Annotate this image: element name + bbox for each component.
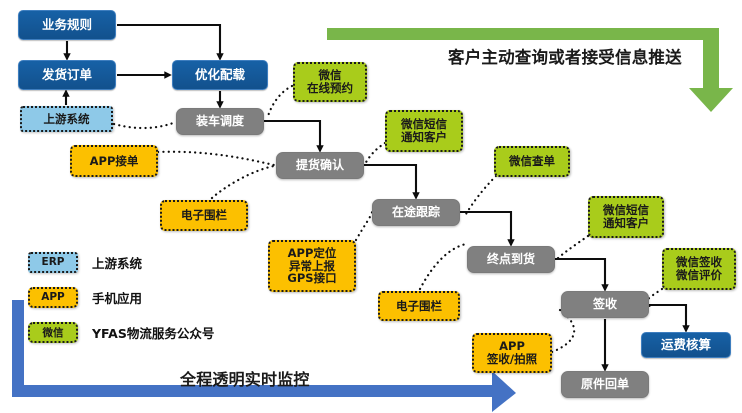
dot-efence2-to-arrival <box>420 244 466 289</box>
flowchart-canvas: 业务规则 发货订单 上游系统 优化配载 装车调度 提货确认 在途跟踪 终点到货 … <box>0 0 742 413</box>
edge-signature-to-freight <box>649 305 686 329</box>
node-wechat-sms-notify-1[interactable]: 微信短信 通知客户 <box>385 110 463 152</box>
edge-rules-to-optimize <box>117 25 220 57</box>
dot-wx-query-to-transit <box>466 176 496 214</box>
node-freight-accounting[interactable]: 运费核算 <box>641 332 731 358</box>
dot-wx-booking-to-loading <box>268 86 292 116</box>
node-upstream-system[interactable]: 上游系统 <box>20 106 113 132</box>
node-in-transit[interactable]: 在途跟踪 <box>372 199 460 226</box>
edge-transit-to-arrival <box>460 212 511 243</box>
node-electronic-fence-2[interactable]: 电子围栏 <box>378 291 460 321</box>
legend-swatch-wechat: 微信 <box>28 322 78 343</box>
node-electronic-fence-1[interactable]: 电子围栏 <box>160 200 248 231</box>
legend-item-wechat: 微信 YFAS物流服务公众号 <box>28 320 214 344</box>
dot-upstream-to-dispatch <box>114 122 176 128</box>
dot-appgps-to-transit <box>356 212 372 240</box>
legend: ERP 上游系统 APP 手机应用 微信 YFAS物流服务公众号 <box>28 250 214 355</box>
node-arrival[interactable]: 终点到货 <box>467 246 555 273</box>
dot-wx-sms2-to-arrival <box>556 236 588 260</box>
legend-label-app: 手机应用 <box>92 288 142 307</box>
node-optimize-loading[interactable]: 优化配载 <box>172 60 268 90</box>
node-wechat-sms-notify-2[interactable]: 微信短信 通知客户 <box>588 196 664 238</box>
legend-label-wechat: YFAS物流服务公众号 <box>92 323 214 342</box>
node-app-gps[interactable]: APP定位 异常上报 GPS接口 <box>268 240 356 292</box>
node-original-receipt[interactable]: 原件回单 <box>561 371 649 398</box>
node-app-receive[interactable]: APP接单 <box>70 145 158 177</box>
node-loading-dispatch[interactable]: 装车调度 <box>176 108 264 135</box>
annotation-full-monitor: 全程透明实时监控 <box>180 366 310 390</box>
dot-efence1-to-pickup <box>212 166 274 198</box>
legend-swatch-app: APP <box>28 287 78 308</box>
node-business-rules[interactable]: 业务规则 <box>18 10 116 40</box>
legend-label-erp: 上游系统 <box>92 253 142 272</box>
legend-item-app: APP 手机应用 <box>28 285 214 309</box>
annotation-customer-push: 客户主动查询或者接受信息推送 <box>448 44 682 68</box>
node-wechat-sign-review[interactable]: 微信签收 微信评价 <box>662 248 736 290</box>
dot-wx-sms1-to-pickup <box>364 143 385 166</box>
green-information-arrow <box>327 28 733 112</box>
edge-arrival-to-signature <box>555 259 605 288</box>
node-app-sign[interactable]: APP 签收/拍照 <box>472 333 552 373</box>
legend-item-erp: ERP 上游系统 <box>28 250 214 274</box>
dot-app-receive-to-pickup <box>158 152 274 165</box>
node-shipping-order[interactable]: 发货订单 <box>18 60 116 90</box>
node-wechat-query[interactable]: 微信查单 <box>494 146 570 177</box>
legend-swatch-erp: ERP <box>28 252 78 273</box>
node-signature[interactable]: 签收 <box>561 291 649 318</box>
edge-dispatch-to-pickup <box>264 121 320 149</box>
edge-pickup-to-transit <box>364 165 416 196</box>
node-pickup-confirm[interactable]: 提货确认 <box>276 152 364 179</box>
node-wechat-booking[interactable]: 微信 在线预约 <box>293 62 367 102</box>
